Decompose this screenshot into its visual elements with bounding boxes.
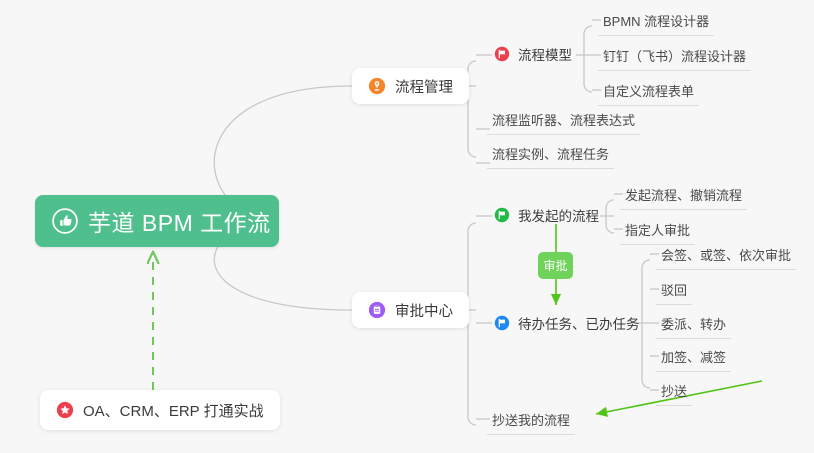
clipboard-icon — [368, 301, 386, 319]
leaf-cc[interactable]: 抄送 — [656, 381, 692, 406]
node-approval-center[interactable]: 审批中心 — [352, 292, 469, 328]
leaf-countersign[interactable]: 会签、或签、依次审批 — [656, 245, 796, 270]
edge-my-started-trunk — [606, 200, 614, 233]
flag-icon — [494, 46, 510, 62]
leaf-instance-task[interactable]: 流程实例、流程任务 — [487, 144, 614, 169]
leaf-custom-form[interactable]: 自定义流程表单 — [598, 81, 699, 106]
node-todo-done-tasks-label: 待办任务、已办任务 — [518, 313, 640, 333]
edge-flow-management-trunk — [468, 61, 476, 157]
edge-todo-done-trunk — [642, 260, 650, 388]
node-my-started-processes[interactable]: 我发起的流程 — [494, 202, 599, 228]
leaf-start-cancel-process[interactable]: 发起流程、撤销流程 — [620, 185, 747, 210]
node-flow-management-label: 流程管理 — [395, 76, 453, 97]
node-flow-management[interactable]: 流程管理 — [352, 68, 469, 104]
flag-icon — [494, 315, 510, 331]
node-my-started-processes-label: 我发起的流程 — [518, 205, 599, 225]
mindmap-canvas: 芋道 BPM 工作流 流程管理 流程模型 BPMN 流程设计器 钉钉（飞书）流程… — [0, 0, 814, 453]
node-todo-done-tasks[interactable]: 待办任务、已办任务 — [494, 310, 640, 336]
root-node-label: 芋道 BPM 工作流 — [88, 204, 271, 238]
node-integration-practice[interactable]: OA、CRM、ERP 打通实战 — [40, 390, 280, 430]
flag-icon — [494, 207, 510, 223]
thumbs-up-icon — [52, 208, 78, 234]
star-icon — [56, 401, 74, 419]
root-node[interactable]: 芋道 BPM 工作流 — [35, 195, 279, 247]
node-approval-center-label: 审批中心 — [395, 300, 453, 321]
node-flow-model-label: 流程模型 — [518, 44, 572, 64]
edge-approval-center-trunk — [468, 223, 476, 425]
leaf-delegate-transfer[interactable]: 委派、转办 — [656, 314, 731, 339]
edge-flow-model-trunk — [584, 26, 592, 92]
leaf-assignee-approval[interactable]: 指定人审批 — [620, 220, 695, 245]
leaf-add-remove-sign[interactable]: 加签、减签 — [656, 347, 731, 372]
leaf-cc-my-process[interactable]: 抄送我的流程 — [487, 410, 575, 435]
node-flow-model[interactable]: 流程模型 — [494, 41, 572, 67]
leaf-bpmn-designer[interactable]: BPMN 流程设计器 — [598, 11, 714, 36]
leaf-reject[interactable]: 驳回 — [656, 280, 692, 305]
approve-tag[interactable]: 审批 — [538, 252, 573, 279]
leaf-listener-expression[interactable]: 流程监听器、流程表达式 — [487, 110, 640, 135]
leaf-dingtalk-designer[interactable]: 钉钉（飞书）流程设计器 — [598, 46, 751, 71]
node-integration-practice-label: OA、CRM、ERP 打通实战 — [83, 400, 264, 421]
location-pin-icon — [368, 77, 386, 95]
